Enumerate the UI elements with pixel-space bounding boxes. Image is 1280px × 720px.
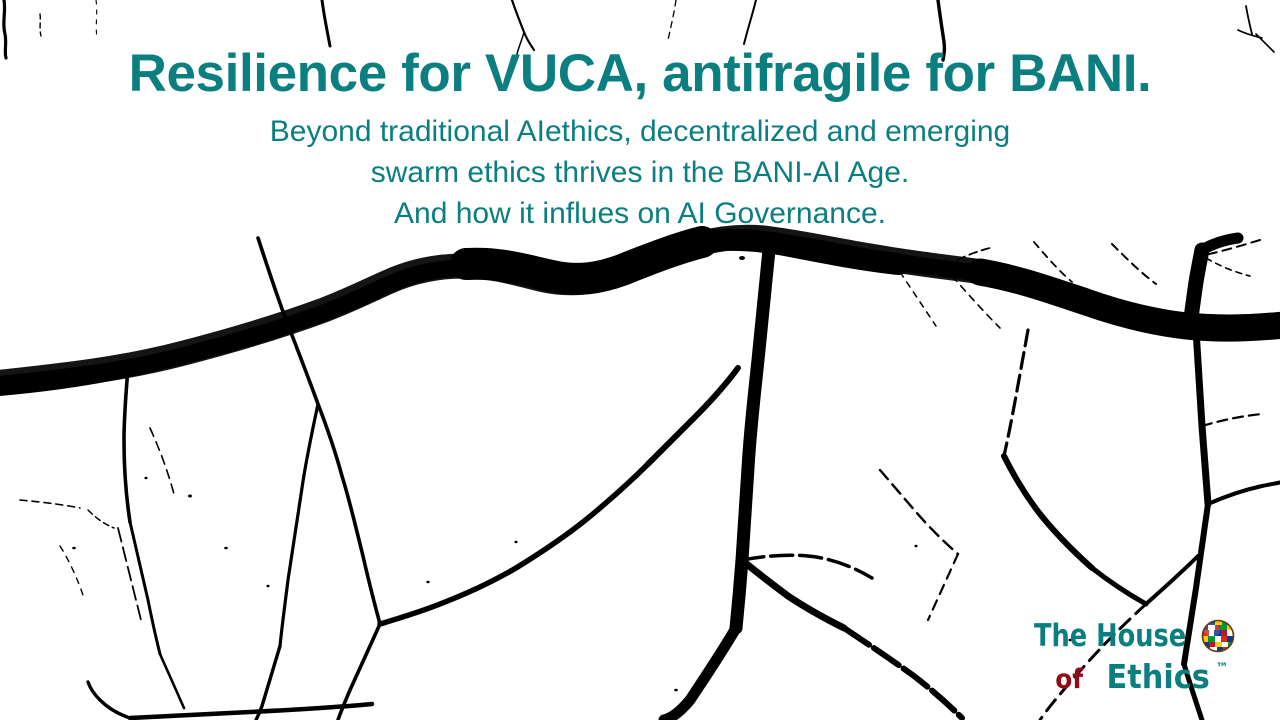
logo-top-row: The House — [1034, 614, 1235, 658]
logo-of-text: of — [1055, 666, 1083, 693]
logo-ethics-text: Ethics — [1107, 660, 1210, 693]
house-of-ethics-logo[interactable]: The House — [1034, 614, 1260, 712]
logo-bottom-row: of Ethics ™ — [1054, 660, 1229, 693]
presentation-slide: Resilience for VUCA, antifragile for BAN… — [0, 0, 1280, 720]
flag-globe-icon — [1201, 619, 1235, 653]
trademark-symbol: ™ — [1216, 662, 1229, 675]
logo-the-house-text: The House — [1034, 621, 1186, 652]
cracked-surface-background — [0, 0, 1280, 720]
